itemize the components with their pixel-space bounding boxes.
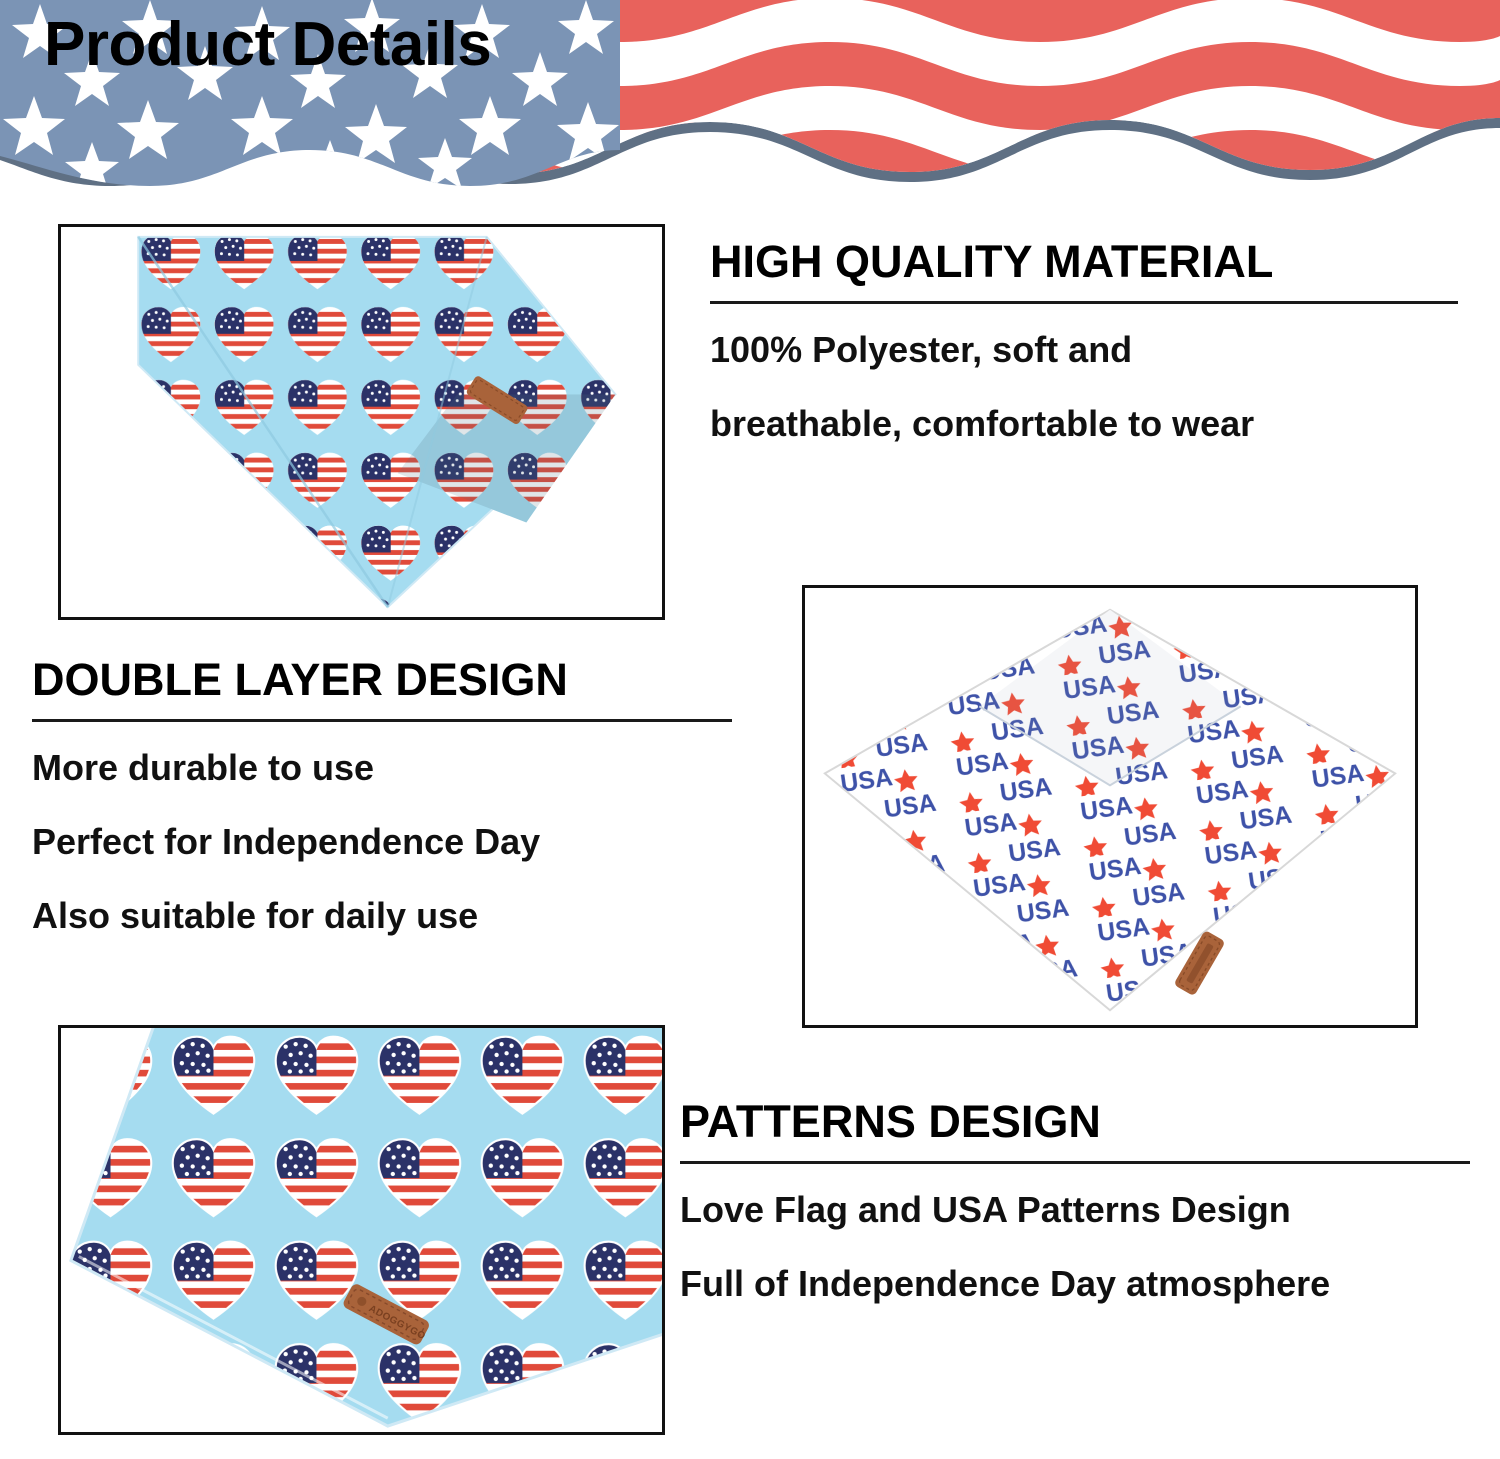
feature-title-double-layer: DOUBLE LAYER DESIGN: [32, 656, 744, 703]
feature-title-material: HIGH QUALITY MATERIAL: [710, 238, 1458, 285]
feature-divider-patterns: [680, 1161, 1470, 1164]
feature-line: breathable, comfortable to wear: [710, 406, 1458, 442]
feature-divider-double-layer: [32, 719, 732, 722]
feature-high-quality-material: HIGH QUALITY MATERIAL 100% Polyester, so…: [710, 238, 1458, 442]
folded-bandana-photo: [58, 224, 665, 620]
heart-flag-bandana-photo: ADOGGYGO: [58, 1025, 665, 1435]
feature-line: More durable to use: [32, 750, 744, 786]
feature-line: Love Flag and USA Patterns Design: [680, 1192, 1480, 1228]
feature-divider-material: [710, 301, 1458, 304]
page-title: Product Details: [44, 14, 491, 76]
feature-line: Perfect for Independence Day: [32, 824, 744, 860]
feature-title-patterns: PATTERNS DESIGN: [680, 1098, 1480, 1145]
feature-line: Also suitable for daily use: [32, 898, 744, 934]
header-banner: Product Details: [0, 0, 1500, 200]
feature-double-layer-design: DOUBLE LAYER DESIGN More durable to use …: [32, 656, 744, 934]
feature-line: Full of Independence Day atmosphere: [680, 1266, 1480, 1302]
feature-line: 100% Polyester, soft and: [710, 332, 1458, 368]
feature-patterns-design: PATTERNS DESIGN Love Flag and USA Patter…: [680, 1098, 1480, 1302]
usa-print-bandana-photo: USA USA: [802, 585, 1418, 1028]
